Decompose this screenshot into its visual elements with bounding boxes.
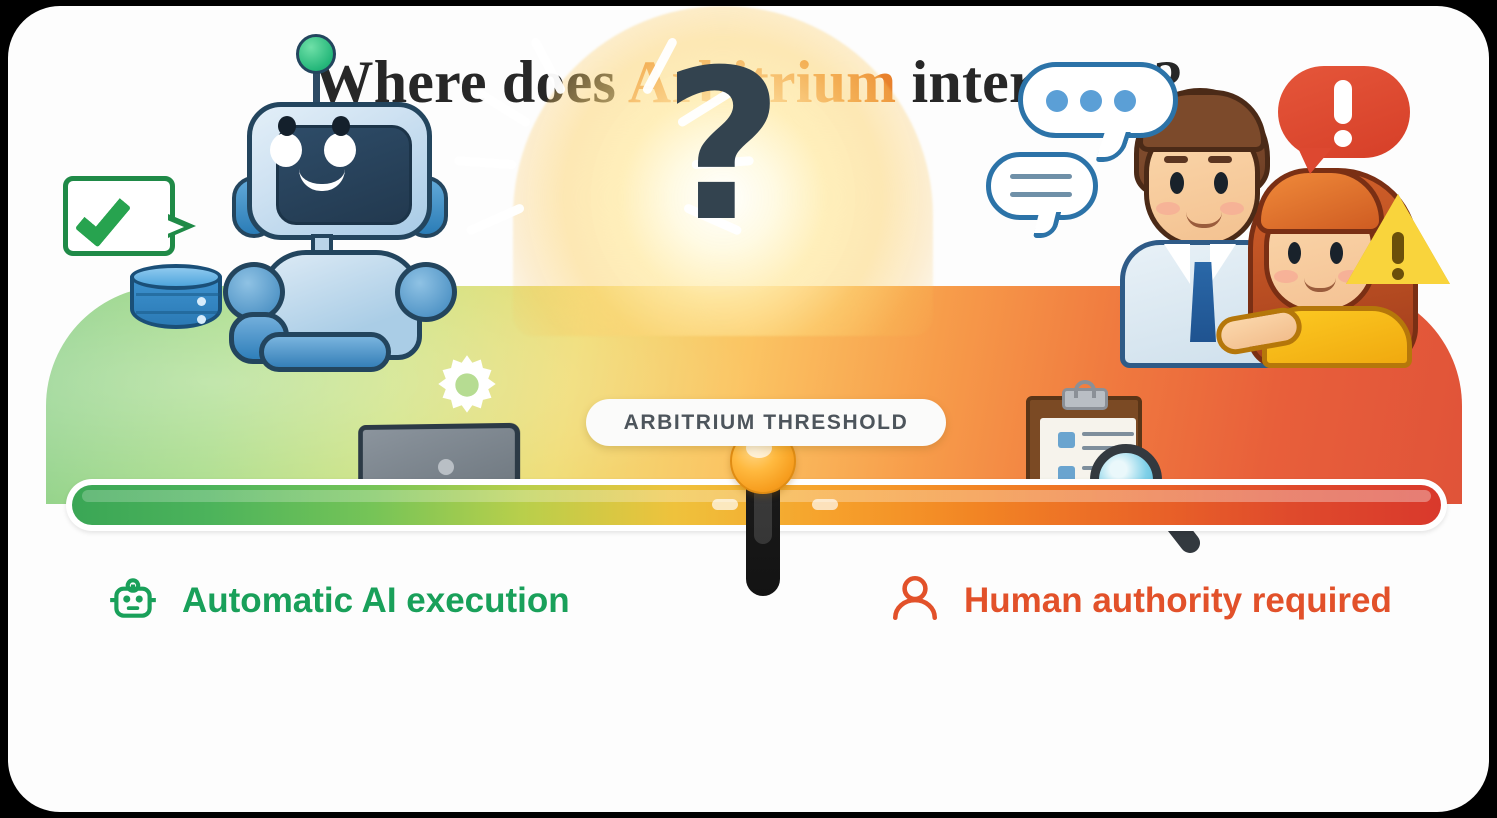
chat-dot-2 (1080, 90, 1102, 112)
question-mark-symbol: ? (513, 12, 933, 282)
robot-eye-right (324, 133, 356, 167)
woman-cheek-left (1274, 270, 1298, 283)
threshold-label-pill[interactable]: ARBITRIUM THRESHOLD (586, 399, 946, 446)
database-dot-1 (197, 297, 206, 306)
clipboard-ring (1074, 380, 1096, 398)
legend-left-label: Automatic AI execution (182, 581, 570, 621)
robot-eye-left (270, 133, 302, 167)
robot-antenna-ball (296, 34, 336, 74)
database-icon (130, 264, 222, 336)
legend-automatic-execution: Automatic AI execution (106, 571, 570, 630)
laptop-logo-dot (438, 459, 454, 475)
alert-bubble-tail (1298, 148, 1332, 174)
chat-dot-1 (1046, 90, 1068, 112)
database-divider-2 (136, 311, 220, 314)
man-collar-left (1164, 244, 1190, 284)
robot-head (247, 102, 432, 240)
slider-tick-1 (712, 499, 738, 510)
chat-line-2 (1010, 192, 1072, 197)
legend-right-label: Human authority required (964, 581, 1392, 621)
man-eyebrow-left (1164, 156, 1188, 163)
screenshot-root: Where does Arbitrium intervene? (0, 0, 1497, 818)
man-cheek-right (1220, 202, 1244, 215)
clipboard-line-1 (1082, 432, 1134, 436)
man-eye-left (1170, 172, 1184, 194)
man-cheek-left (1156, 202, 1180, 215)
chat-line-1 (1010, 174, 1072, 179)
gear-icon (433, 351, 501, 419)
man-collar-right (1210, 244, 1236, 284)
person-icon (888, 571, 942, 630)
ai-robot-character (213, 36, 513, 356)
alert-exclamation-dot (1334, 130, 1352, 147)
chat-bubble-lines (986, 152, 1098, 220)
check-bubble-tail-inner (165, 219, 184, 235)
alert-exclamation-bar (1334, 80, 1352, 124)
database-top-disc (130, 264, 222, 290)
threshold-label-text: ARBITRIUM THRESHOLD (624, 411, 909, 435)
man-eyebrow-right (1208, 156, 1232, 163)
database-dot-2 (197, 315, 206, 324)
robot-icon (106, 571, 160, 630)
woman-eye-right (1330, 242, 1343, 264)
robot-forearm (259, 332, 391, 372)
database-divider-1 (136, 293, 220, 296)
robot-shoulder-right (395, 262, 457, 322)
chat-dot-3 (1114, 90, 1136, 112)
illustration-card: Where does Arbitrium intervene? (8, 6, 1489, 812)
warning-exclamation-bar (1392, 232, 1404, 264)
robot-pupil-left (278, 116, 296, 136)
clipboard-checkbox-1 (1058, 432, 1075, 448)
woman-eye-left (1288, 242, 1301, 264)
legend-human-authority: Human authority required (888, 571, 1392, 630)
slider-tick-2 (812, 499, 838, 510)
man-eye-right (1214, 172, 1228, 194)
warning-exclamation-dot (1392, 268, 1404, 280)
robot-pupil-right (332, 116, 350, 136)
